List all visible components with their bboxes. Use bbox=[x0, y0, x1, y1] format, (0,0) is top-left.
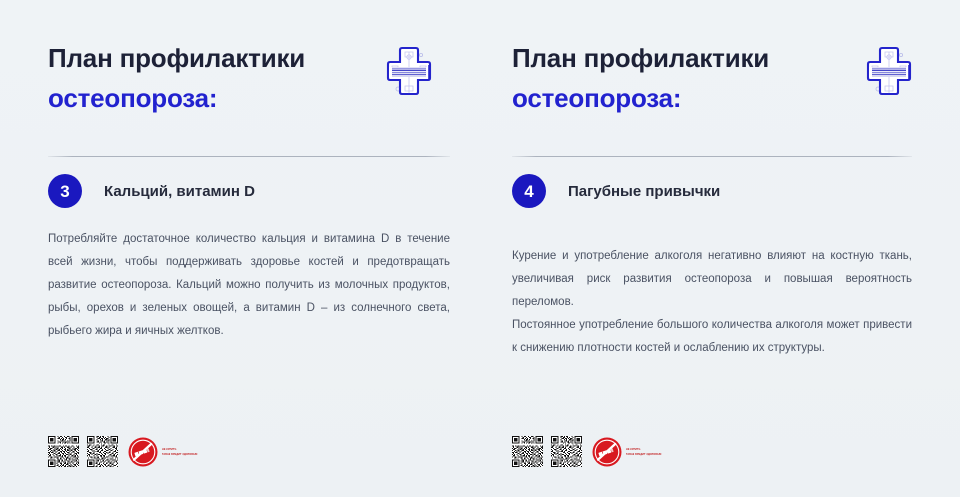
qr-code-icon[interactable] bbox=[87, 436, 118, 467]
stamp-caption: НЕ КУРИТЬ ТАБАК ВРЕДИТ ЗДОРОВЬЮ bbox=[626, 448, 661, 456]
step-number-badge: 4 bbox=[512, 174, 546, 208]
stamp-caption-line2: ТАБАК ВРЕДИТ ЗДОРОВЬЮ bbox=[162, 453, 197, 456]
qr-code-icon[interactable] bbox=[512, 436, 543, 467]
step-row: 3 Кальций, витамин D bbox=[48, 174, 255, 208]
page-title-line1: План профилактики bbox=[512, 42, 769, 75]
page-title-line2: остеопороза: bbox=[512, 82, 769, 115]
panel-right: План профилактики остеопороза: bbox=[480, 0, 960, 497]
step-row: 4 Пагубные привычки bbox=[512, 174, 720, 208]
body-text: Потребляйте достаточное количество кальц… bbox=[48, 228, 450, 343]
stamp-caption-line2: ТАБАК ВРЕДИТ ЗДОРОВЬЮ bbox=[626, 453, 661, 456]
footer: НЕ КУРИТЬ ТАБАК ВРЕДИТ ЗДОРОВЬЮ bbox=[512, 436, 661, 467]
step-title: Кальций, витамин D bbox=[104, 183, 255, 200]
header-titles: План профилактики остеопороза: bbox=[48, 42, 305, 116]
medical-cross-logo-icon bbox=[386, 46, 432, 98]
step-title: Пагубные привычки bbox=[568, 183, 720, 200]
footer: НЕ КУРИТЬ ТАБАК ВРЕДИТ ЗДОРОВЬЮ bbox=[48, 436, 197, 467]
body-paragraph: Потребляйте достаточное количество кальц… bbox=[48, 228, 450, 343]
slide-root: План профилактики остеопороза: bbox=[0, 0, 960, 497]
page-title-line1: План профилактики bbox=[48, 42, 305, 75]
panel-header: План профилактики остеопороза: bbox=[512, 0, 912, 116]
header-titles: План профилактики остеопороза: bbox=[512, 42, 769, 116]
body-paragraph: Курение и употребление алкоголя негативн… bbox=[512, 245, 912, 314]
header-divider bbox=[512, 156, 912, 157]
page-title-line2: остеопороза: bbox=[48, 82, 305, 115]
step-number-badge: 3 bbox=[48, 174, 82, 208]
stamp-caption-line1: НЕ КУРИТЬ bbox=[162, 448, 197, 451]
medical-cross-logo-icon bbox=[866, 46, 912, 98]
no-smoking-stamp-icon bbox=[592, 437, 622, 467]
panel-left: План профилактики остеопороза: bbox=[0, 0, 480, 497]
panel-header: План профилактики остеопороза: bbox=[48, 0, 432, 116]
qr-code-icon[interactable] bbox=[48, 436, 79, 467]
header-divider bbox=[48, 156, 450, 157]
body-paragraph: Постоянное употребление большого количес… bbox=[512, 314, 912, 360]
body-text: Курение и употребление алкоголя негативн… bbox=[512, 245, 912, 360]
stamp-caption: НЕ КУРИТЬ ТАБАК ВРЕДИТ ЗДОРОВЬЮ bbox=[162, 448, 197, 456]
stamp-caption-line1: НЕ КУРИТЬ bbox=[626, 448, 661, 451]
no-smoking-stamp-icon bbox=[128, 437, 158, 467]
qr-code-icon[interactable] bbox=[551, 436, 582, 467]
